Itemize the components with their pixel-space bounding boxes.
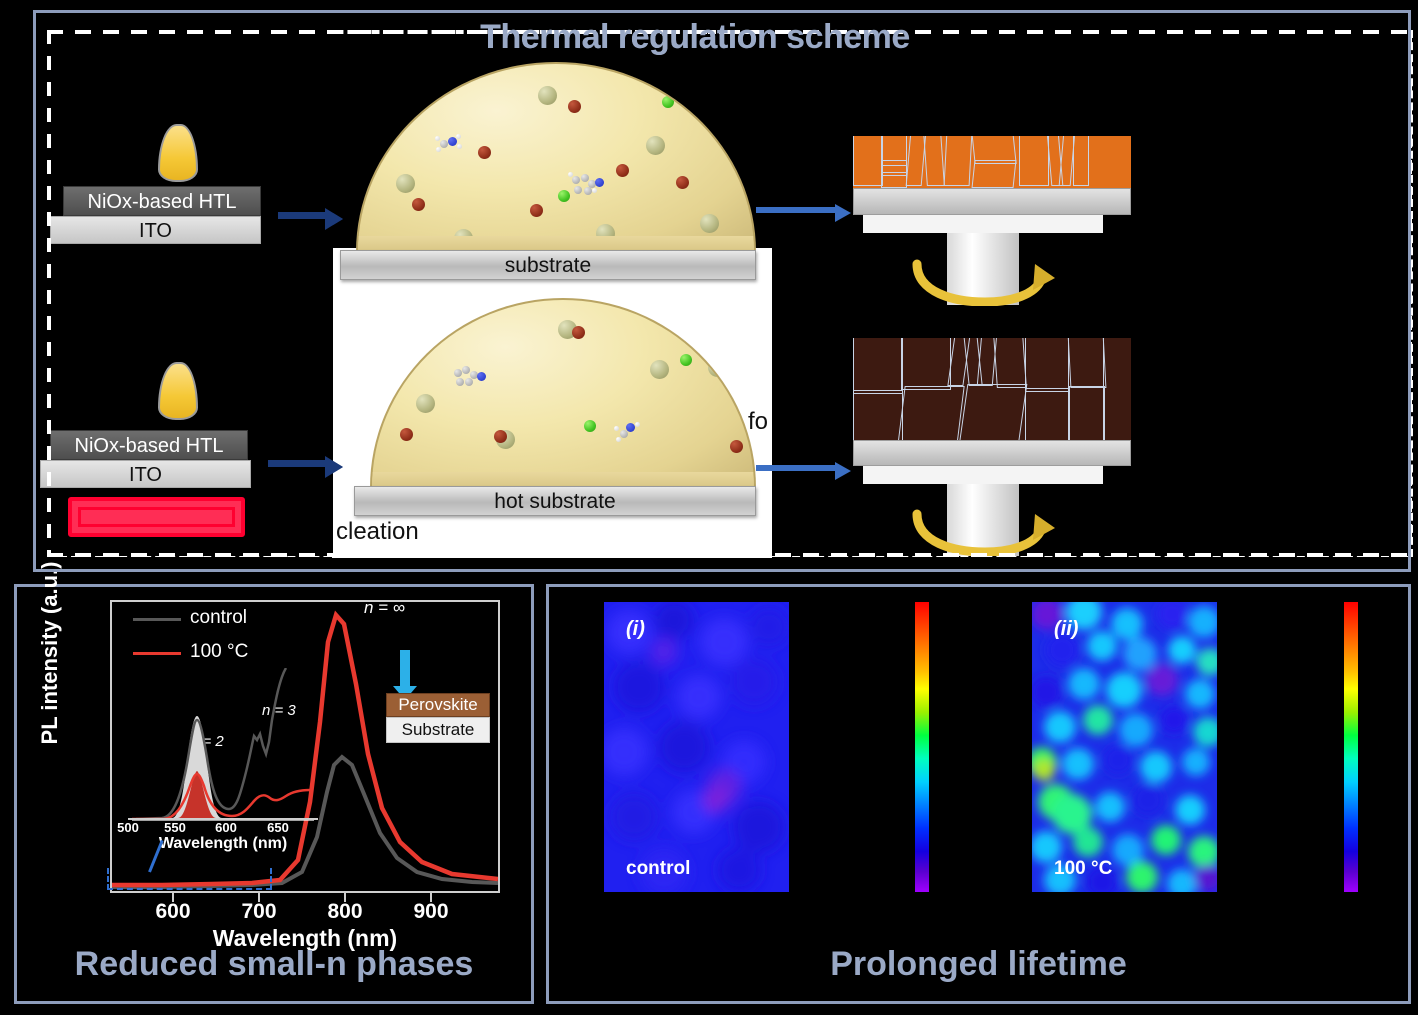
inset-tick-500: 500 (110, 820, 146, 835)
map-sample-label-hot: 100 °C (1054, 858, 1112, 880)
ito-layer-top-a: ITO (50, 216, 261, 244)
partial-label-for: fo (748, 408, 768, 436)
xtick-label-600: 600 (143, 900, 203, 924)
downward-arrow-icon (400, 650, 410, 686)
legend-label-hot: 100 °C (190, 641, 248, 663)
map-index-label-ii: (ii) (1054, 618, 1078, 641)
map-sample-label-control: control (626, 858, 690, 880)
result-arrow-top (756, 207, 836, 213)
rotation-arrow-icon (909, 258, 1059, 306)
hot-substrate-bar: hot substrate (354, 486, 756, 516)
inset-tick-550: 550 (157, 820, 193, 835)
legend-swatch-hot (133, 652, 181, 655)
inset-tick-650: 650 (260, 820, 296, 835)
process-arrow-bottom-b (268, 460, 326, 467)
lifetime-map-hot (1032, 602, 1217, 892)
pl-inset-curves (128, 668, 318, 828)
map-index-label-i: (i) (626, 618, 645, 641)
xtick-label-900: 900 (401, 900, 461, 924)
mask-mid-left (33, 245, 333, 281)
rotation-arrow-icon-2 (909, 508, 1059, 556)
pl-y-axis-label: PL intensity (a.u.) (37, 543, 63, 763)
legend-label-control: control (190, 607, 247, 629)
panel-left-border (33, 10, 36, 572)
dashed-bottom-edge (47, 553, 1413, 557)
page-title-overlay: Thermal regulation scheme (460, 16, 930, 58)
dashed-right-edge (1408, 30, 1412, 557)
colorbar-control (915, 602, 929, 892)
substrate-layer-label: Substrate (386, 717, 490, 743)
zoom-region-bracket (107, 868, 272, 890)
xtick-label-800: 800 (315, 900, 375, 924)
dashed-left-edge (47, 30, 51, 557)
xtick-label-700: 700 (229, 900, 289, 924)
reduced-small-n-caption: Reduced small-n phases (14, 945, 534, 984)
annotation-n-infinity: n = ∞ (364, 598, 405, 618)
perovskite-layer-label: Perovskite (386, 693, 490, 717)
process-arrow-top-a (278, 212, 326, 219)
inset-tick-600: 600 (208, 820, 244, 835)
substrate-bar: substrate (340, 250, 756, 280)
htl-layer-bottom-b: NiOx-based HTL (50, 430, 248, 460)
partial-label-nucleation: cleation (336, 518, 419, 546)
htl-layer-top-a: NiOx-based HTL (63, 186, 261, 216)
lifetime-map-control (604, 602, 789, 892)
legend-swatch-control (133, 618, 181, 621)
ito-layer-bottom-b: ITO (40, 460, 251, 488)
hotplate-icon-b (68, 497, 245, 537)
prolonged-lifetime-caption: Prolonged lifetime (546, 945, 1411, 984)
result-arrow-bottom (756, 465, 836, 471)
colorbar-hot (1344, 602, 1358, 892)
